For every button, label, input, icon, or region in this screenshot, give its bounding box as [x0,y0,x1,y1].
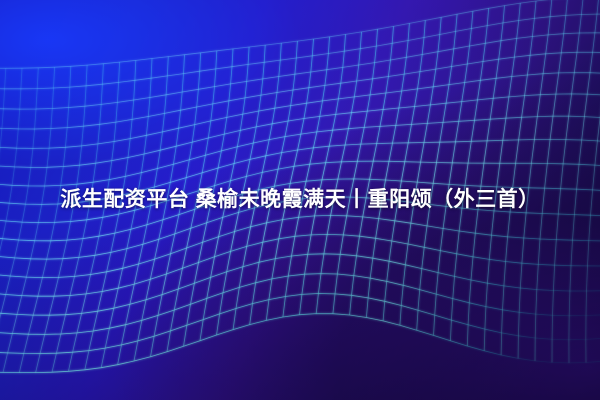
banner-image: 派生配资平台 桑榆未晚霞满天丨重阳颂（外三首） [0,0,600,400]
page-title: 派生配资平台 桑榆未晚霞满天丨重阳颂（外三首） [60,187,539,212]
title-banner: 派生配资平台 桑榆未晚霞满天丨重阳颂（外三首） [0,168,600,232]
